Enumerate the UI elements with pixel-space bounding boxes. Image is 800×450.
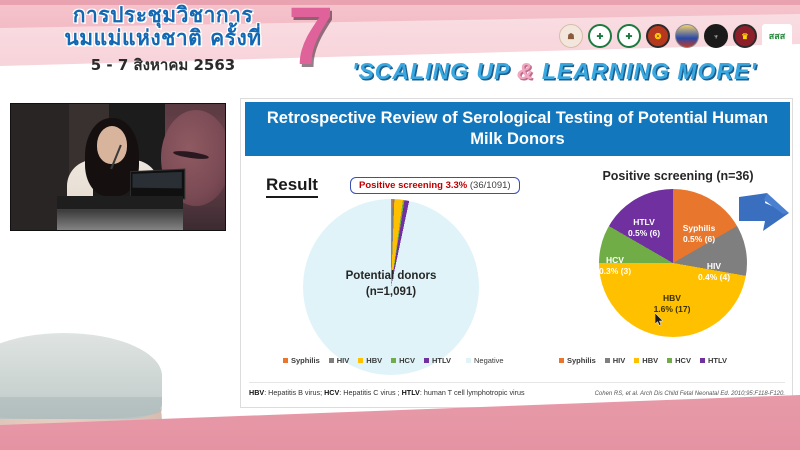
speaker-video-feed[interactable] [10,103,226,231]
baby-hat-band [0,397,162,419]
legend-label-syphilis: Syphilis [291,356,320,365]
abbrev-val-htlv: : human T cell lymphotropic virus [420,388,525,397]
screen-root: การประชุมวิชาการ นมแม่แห่งชาติ ครั้งที่ … [0,0,800,450]
legend2-swatch-hbv [634,358,639,363]
legend-label-hcv: HCV [399,356,415,365]
legend2-label-hcv: HCV [675,356,691,365]
legend-label-hbv: HBV [366,356,382,365]
legend-item-negative: Negative [466,356,504,365]
potential-donors-n: (n=1,091) [303,285,479,301]
conference-title-line1: การประชุมวิชาการ [18,4,308,26]
legend-item-hbv: HBV [358,356,382,365]
conference-title-block: การประชุมวิชาการ นมแม่แห่งชาติ ครั้งที่ … [18,4,308,77]
legend2-swatch-htlv [700,358,705,363]
edition-number: 7 [288,0,334,78]
tagline-part-2: LEARNING MORE' [534,58,756,84]
potential-donors-pie-chart: Potential donors (n=1,091) [303,199,479,375]
conference-date: 5 - 7 สิงหาคม 2563 [18,53,308,77]
abbrev-key-hbv: HBV [249,388,264,397]
conference-title-line2: นมแม่แห่งชาติ ครั้งที่ [18,27,308,49]
slice-pct-hbv: 1.6% (17) [641,304,703,315]
slide-title: Retrospective Review of Serological Test… [245,102,790,156]
ministry-logo-5-icon [675,24,699,48]
legend-swatch-hcv [391,358,396,363]
pie-slice-label-syphilis: Syphilis 0.5% (6) [675,223,723,244]
legend2-label-hbv: HBV [642,356,658,365]
positive-screening-callout: Positive screening 3.3% (36/1091) [350,177,520,194]
ministry-logo-1-icon: ☗ [559,24,583,48]
abbrev-val-hbv: : Hepatitis B virus; [264,388,324,397]
pie-slice-label-hiv: HIV 0.4% (4) [691,261,737,282]
abbreviation-note: HBV: Hepatitis B virus; HCV: Hepatitis C… [249,388,525,397]
abbrev-key-hcv: HCV [324,388,339,397]
mouse-cursor-icon [655,313,664,326]
conference-tagline: 'SCALING UP & LEARNING MORE' [352,58,792,85]
abbrev-key-htlv: HTLV [402,388,420,397]
pie-slice-label-hcv: HCV 0.3% (3) [593,255,637,276]
legend-swatch-hbv [358,358,363,363]
callout-detail: (36/1091) [470,180,511,191]
slice-pct-hcv: 0.3% (3) [593,266,637,277]
pie-slice-label-htlv: HTLV 0.5% (6) [621,217,667,238]
tagline-ampersand: & [517,58,535,84]
legend2-item-hcv: HCV [667,356,691,365]
podium-top [57,196,183,209]
slice-pct-syphilis: 0.5% (6) [675,234,723,245]
legend-positive-screening: Syphilis HIV HBV HCV HTLV [559,356,727,365]
legend2-swatch-hcv [667,358,672,363]
positive-screening-chart-title: Positive screening (n=36) [563,169,793,183]
tagline-part-1: 'SCALING UP [352,58,517,84]
legend-item-syphilis: Syphilis [283,356,320,365]
left-media-column [0,95,232,415]
legend2-swatch-hiv [605,358,610,363]
potential-donors-center-label: Potential donors (n=1,091) [303,269,479,300]
laptop-screen [132,172,181,188]
legend2-item-htlv: HTLV [700,356,727,365]
slice-pct-htlv: 0.5% (6) [621,228,667,239]
ministry-logo-7-icon: ♛ [733,24,757,48]
sponsor-logos: ☗ ✚ ✚ ❂ ♆ ♛ สสส [559,24,792,48]
slice-name-hcv: HCV [593,255,637,266]
callout-highlight: Positive screening 3.3% [359,180,467,191]
conference-banner: การประชุมวิชาการ นมแม่แห่งชาติ ครั้งที่ … [0,0,800,95]
slice-name-hiv: HIV [691,261,737,272]
speaker-face [97,126,127,164]
legend-label-htlv: HTLV [432,356,451,365]
legend-swatch-hiv [329,358,334,363]
slide-footer-divider [249,382,785,383]
pie-slice-label-hbv: HBV 1.6% (17) [641,293,703,314]
slice-name-htlv: HTLV [621,217,667,228]
legend2-label-hiv: HIV [613,356,626,365]
ministry-logo-2-icon: ✚ [588,24,612,48]
abbrev-val-hcv: : Hepatitis C virus ; [339,388,401,397]
legend2-item-hbv: HBV [634,356,658,365]
slice-name-hbv: HBV [641,293,703,304]
positive-screening-pie-chart: Syphilis 0.5% (6) HIV 0.4% (4) HBV 1.6% … [599,189,747,337]
slice-pct-hiv: 0.4% (4) [691,272,737,283]
legend-swatch-negative [466,358,471,363]
legend2-item-syphilis: Syphilis [559,356,596,365]
presentation-slide: Retrospective Review of Serological Test… [240,98,793,408]
potential-donors-title: Potential donors [303,269,479,285]
slide-citation: Cohen RS, et al. Arch Dis Child Fetal Ne… [595,391,785,397]
thaihealth-logo-icon: สสส [762,24,792,48]
legend-potential-donors: Syphilis HIV HBV HCV HTLV Negative [283,356,504,365]
legend2-item-hiv: HIV [605,356,626,365]
legend-label-hiv: HIV [337,356,350,365]
legend-swatch-htlv [424,358,429,363]
legend2-label-htlv: HTLV [708,356,727,365]
slice-name-syphilis: Syphilis [675,223,723,234]
legend-swatch-syphilis [283,358,288,363]
legend-item-hcv: HCV [391,356,415,365]
legend-item-hiv: HIV [329,356,350,365]
legend2-label-syphilis: Syphilis [567,356,596,365]
laptop-icon [130,168,185,199]
result-heading: Result [266,175,318,198]
ministry-logo-6-icon: ♆ [704,24,728,48]
ministry-logo-4-icon: ❂ [646,24,670,48]
legend-item-htlv: HTLV [424,356,451,365]
slide-footnote: HBV: Hepatitis B virus; HCV: Hepatitis C… [249,388,785,397]
legend2-swatch-syphilis [559,358,564,363]
legend-label-negative: Negative [474,356,504,365]
ministry-logo-3-icon: ✚ [617,24,641,48]
